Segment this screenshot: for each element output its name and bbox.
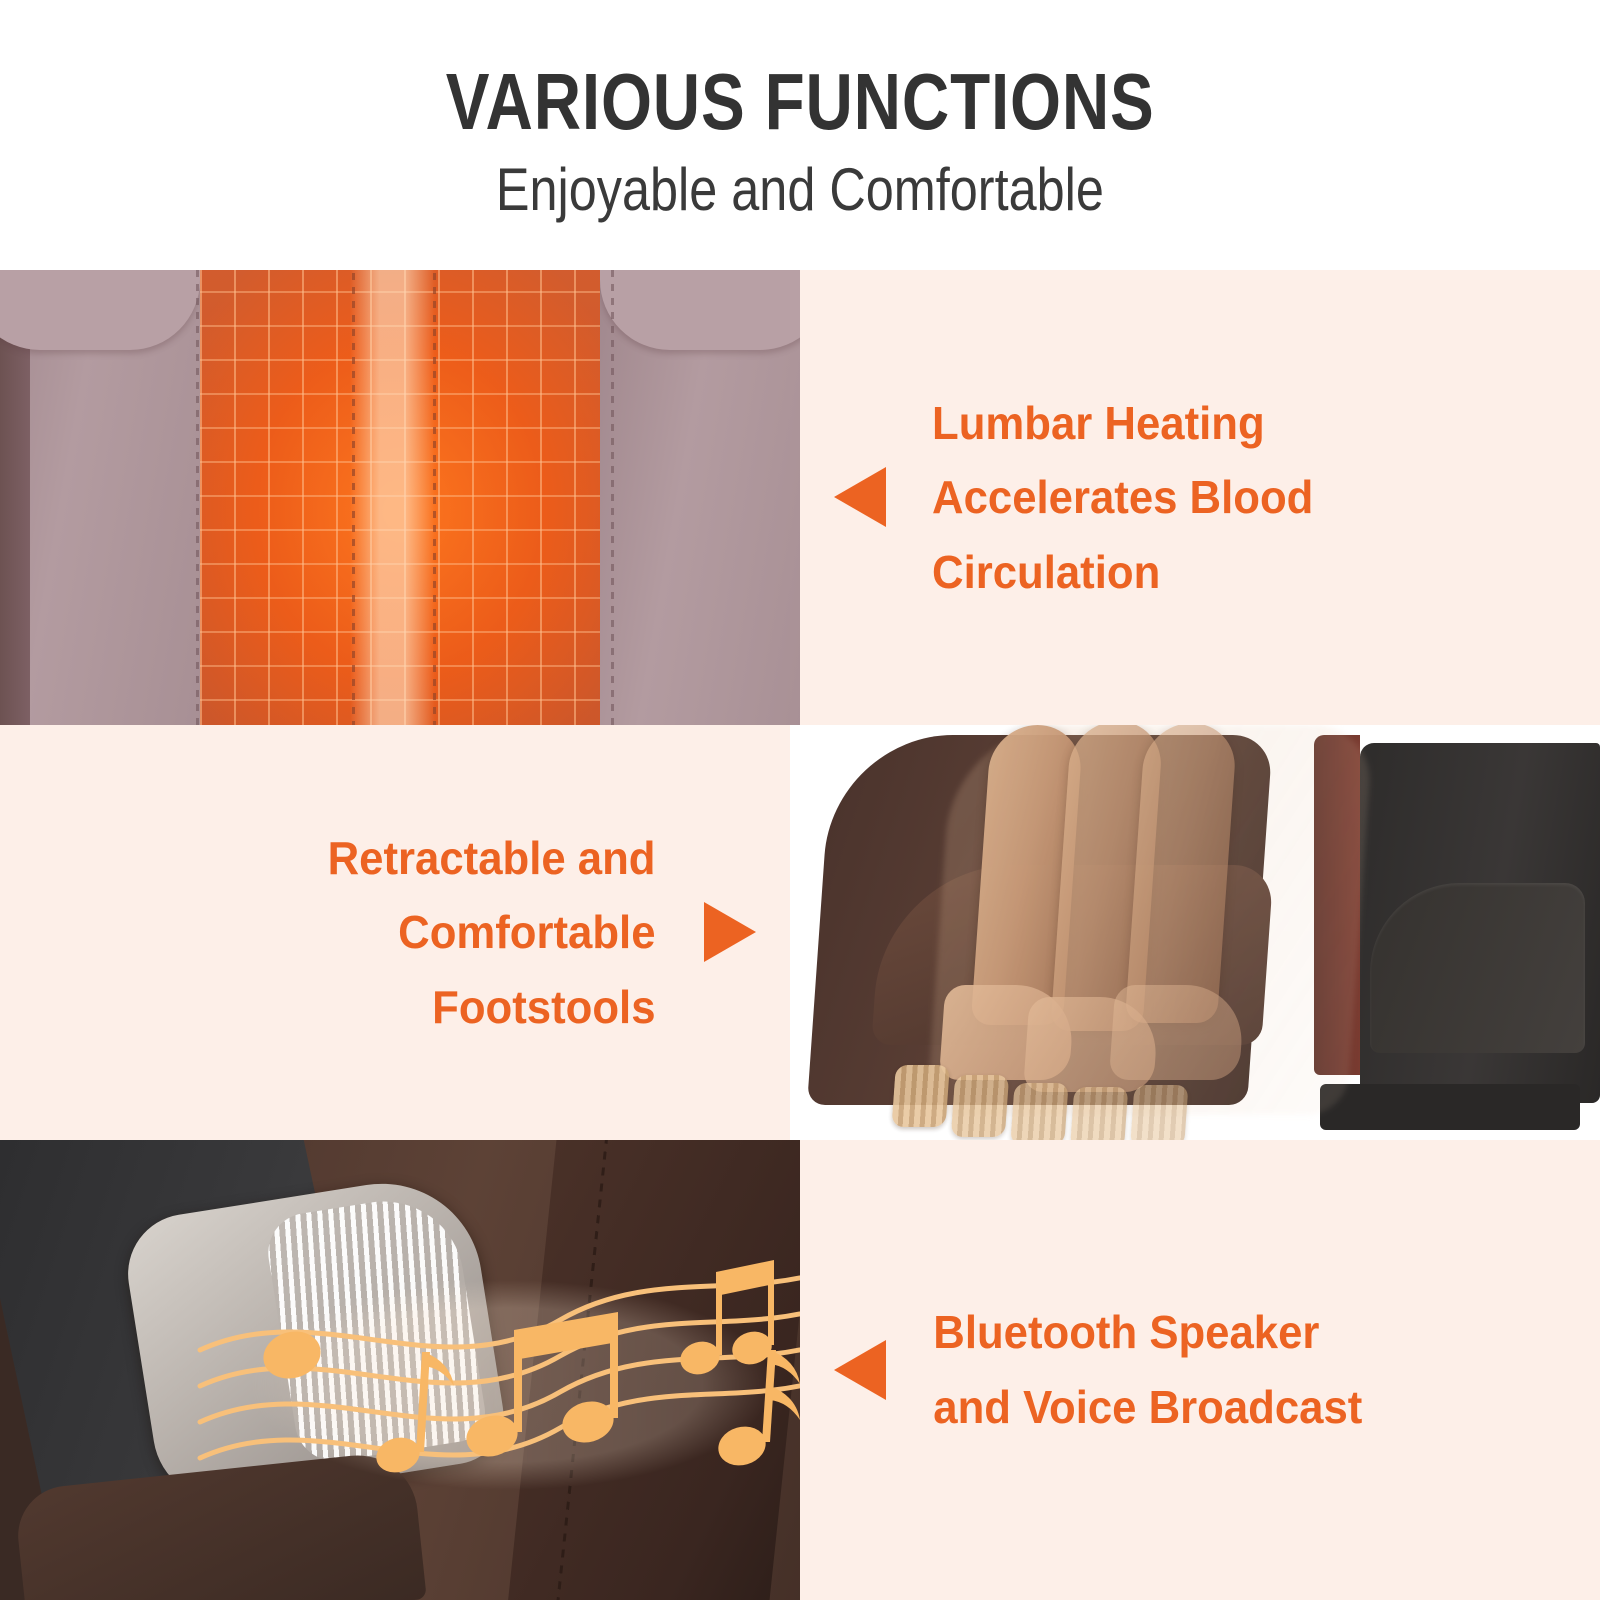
feature-caption-footstools: Retractable and Comfortable Footstools (0, 821, 790, 1045)
feature-caption-lumbar-heating: Lumbar Heating Accelerates Blood Circula… (800, 386, 1600, 610)
caption-line: and Voice Broadcast (933, 1370, 1362, 1445)
triangle-right-icon (704, 902, 756, 962)
feature-row-lumbar-heating: Lumbar Heating Accelerates Blood Circula… (0, 270, 1600, 725)
feature-row-bluetooth-speaker: Bluetooth Speaker and Voice Broadcast (0, 1140, 1600, 1600)
feature-row-footstools: Retractable and Comfortable Footstools (0, 725, 1600, 1140)
caption-line: Circulation (932, 535, 1313, 610)
caption-line: Accelerates Blood (932, 460, 1313, 535)
caption-line: Bluetooth Speaker (933, 1295, 1362, 1370)
foot-roller (1070, 1087, 1128, 1140)
page-title: VARIOUS FUNCTIONS (446, 62, 1155, 142)
footstools-text: Retractable and Comfortable Footstools (328, 821, 656, 1045)
backrest-stitch-right (611, 270, 614, 725)
foot-roller (892, 1065, 950, 1127)
infographic-poster: VARIOUS FUNCTIONS Enjoyable and Comforta… (0, 0, 1600, 1600)
foot-roller (1130, 1085, 1188, 1140)
music-notes-graphic (140, 1200, 800, 1540)
chair-side-panel (1360, 743, 1600, 1103)
caption-line: Comfortable (328, 895, 656, 970)
bluetooth-speaker-text: Bluetooth Speaker and Voice Broadcast (933, 1295, 1362, 1444)
foot-roller (951, 1075, 1009, 1137)
caption-line: Lumbar Heating (932, 386, 1313, 461)
footstools-caption-panel: Retractable and Comfortable Footstools (0, 725, 790, 1140)
center-stitch-left (352, 270, 355, 725)
feature-caption-bluetooth-speaker: Bluetooth Speaker and Voice Broadcast (800, 1295, 1600, 1444)
caption-line: Retractable and (328, 821, 656, 896)
page-header: VARIOUS FUNCTIONS Enjoyable and Comforta… (0, 0, 1600, 270)
backrest-stitch-left (196, 270, 199, 725)
triangle-left-icon (834, 1340, 886, 1400)
backrest-right-shoulder (600, 270, 800, 350)
bluetooth-speaker-caption-panel: Bluetooth Speaker and Voice Broadcast (800, 1140, 1600, 1600)
triangle-left-icon (834, 467, 886, 527)
lumbar-heating-photo (0, 270, 800, 725)
chair-base (1320, 1084, 1580, 1130)
heating-center-highlight (350, 270, 435, 725)
center-stitch-right (433, 270, 436, 725)
bluetooth-speaker-photo (0, 1140, 800, 1600)
heating-panel (200, 270, 600, 725)
lumbar-heating-caption-panel: Lumbar Heating Accelerates Blood Circula… (800, 270, 1600, 725)
foot-roller (1010, 1083, 1068, 1140)
caption-line: Footstools (328, 970, 656, 1045)
page-subtitle: Enjoyable and Comfortable (496, 160, 1104, 220)
footstool-photo (790, 725, 1600, 1140)
lumbar-heating-text: Lumbar Heating Accelerates Blood Circula… (932, 386, 1313, 610)
footrest-body (807, 735, 1273, 1105)
